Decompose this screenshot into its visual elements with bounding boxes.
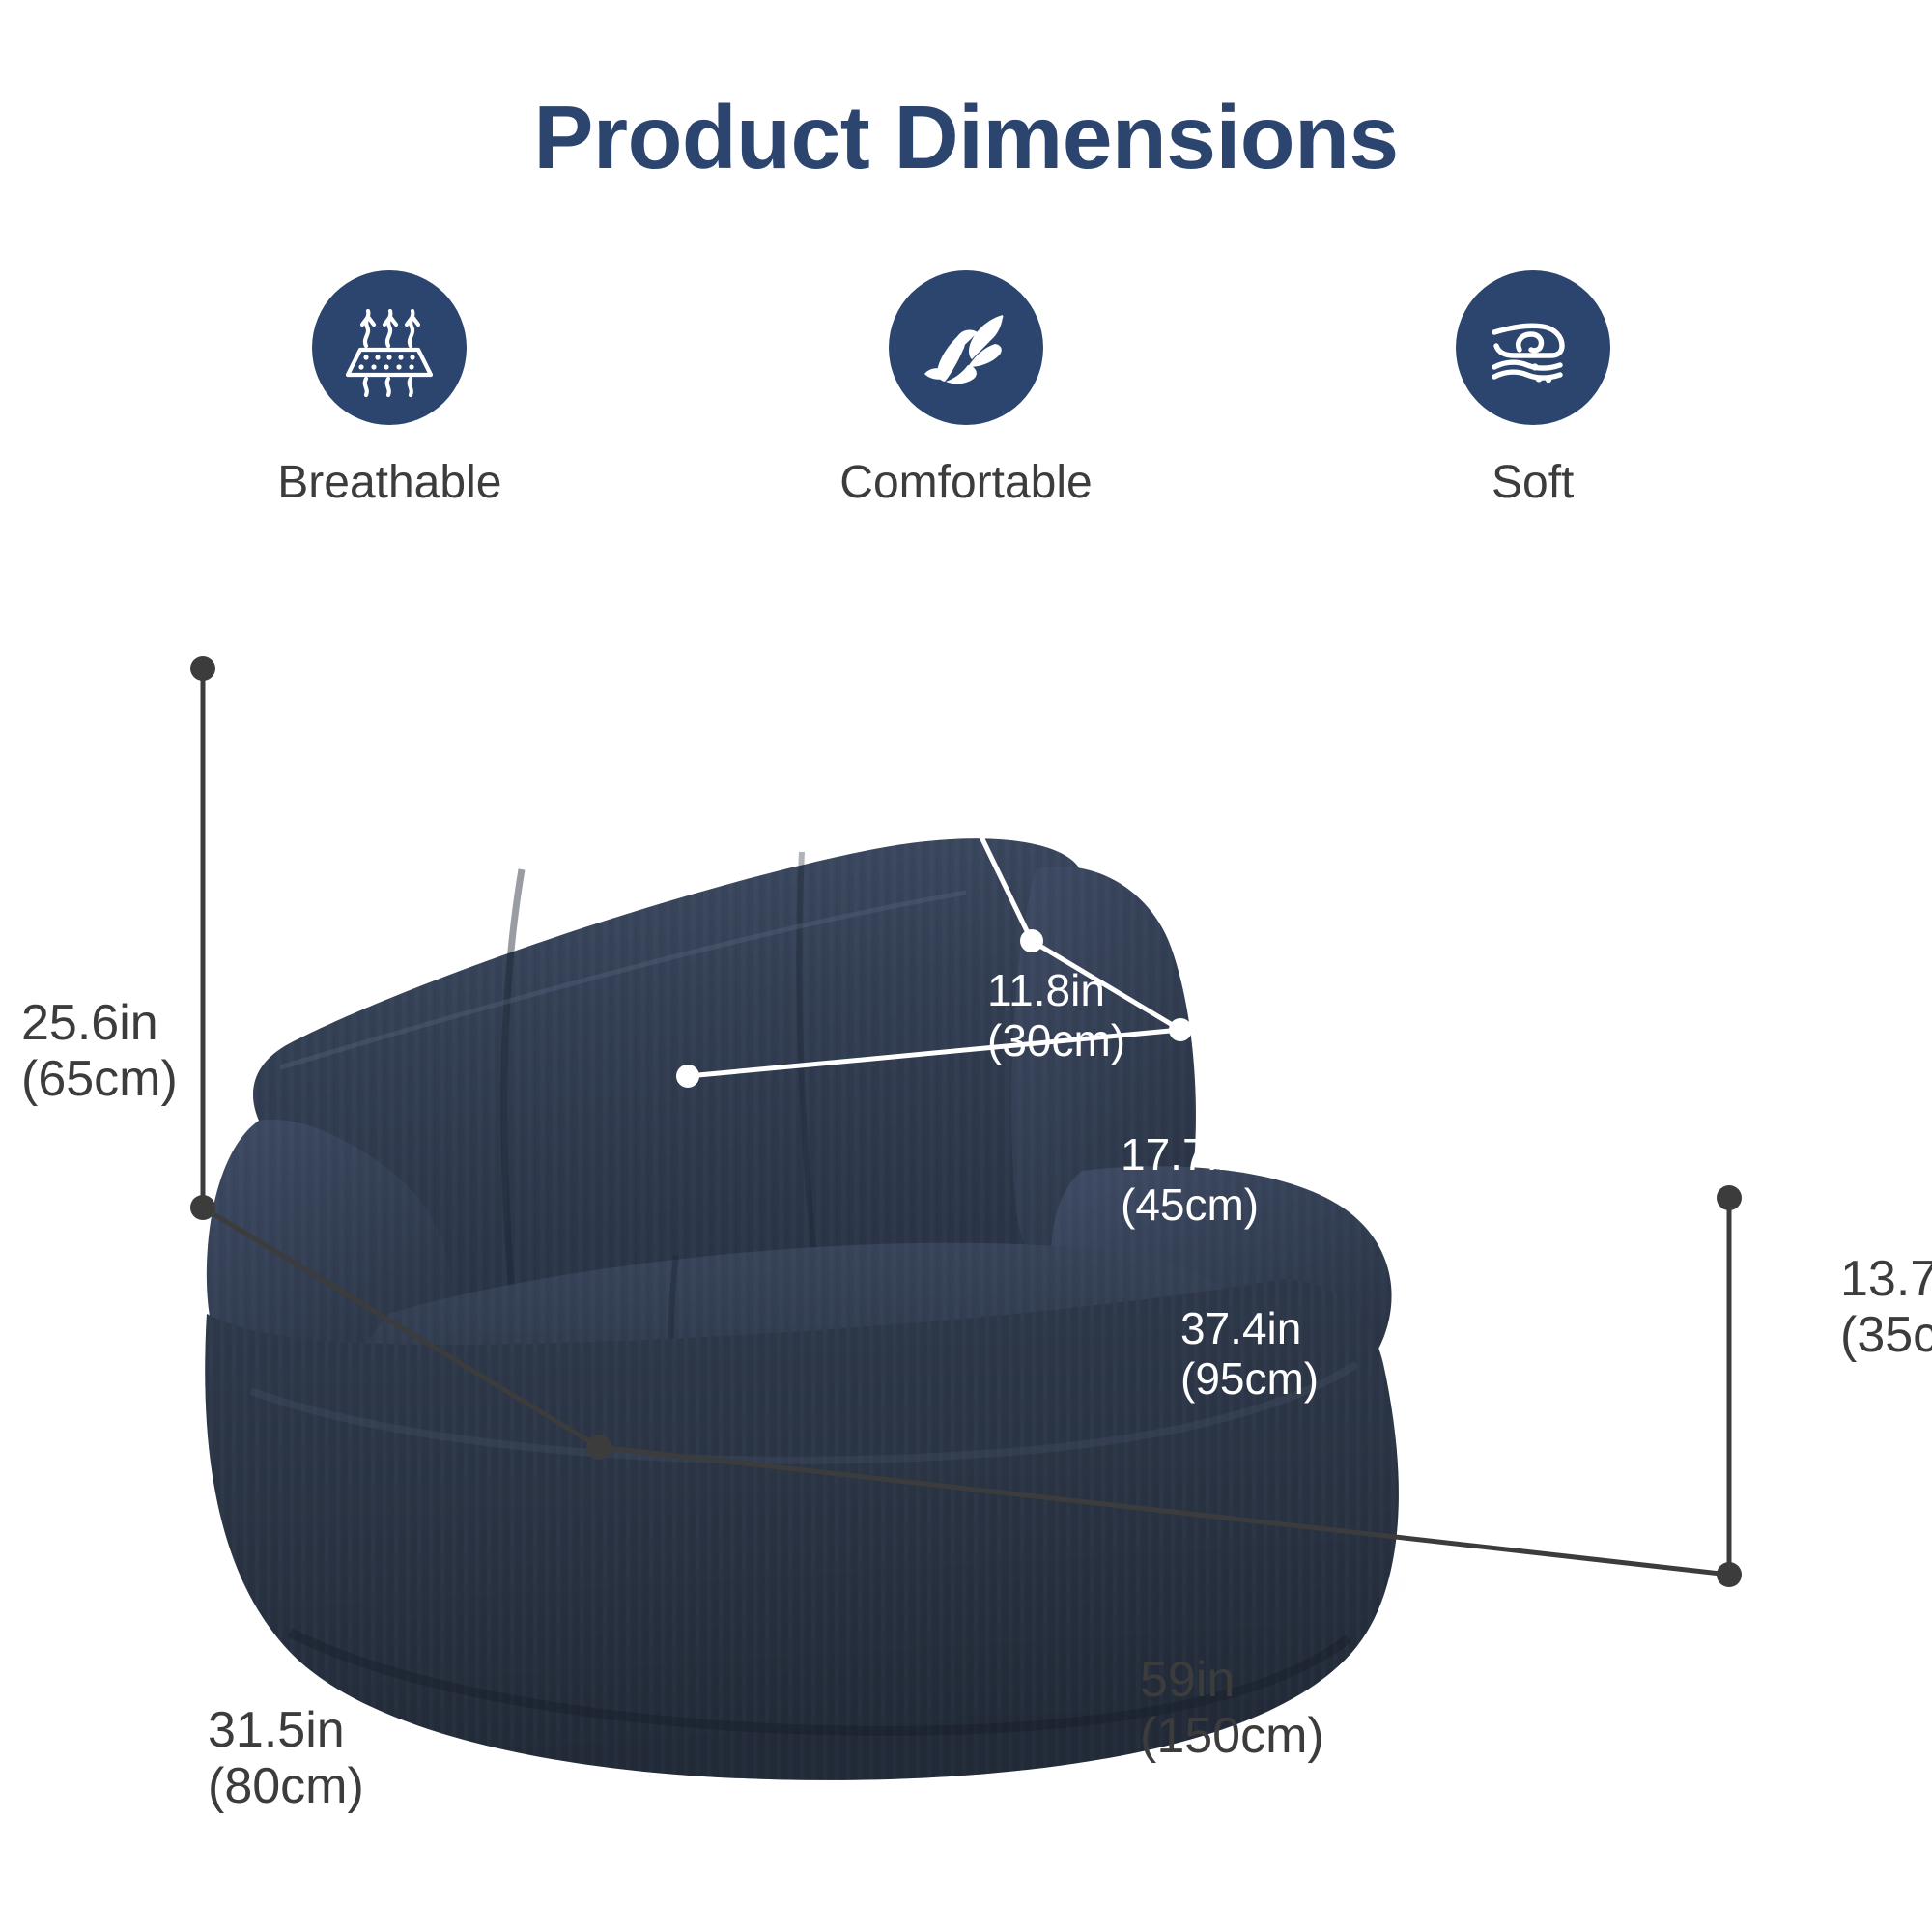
dimension-seat-width-cm: (95cm) [1180,1354,1319,1405]
dimension-depth-inches: 31.5in [208,1702,364,1758]
feature-label-comfortable: Comfortable [839,460,1092,506]
hand-touching-fabric-icon [1456,270,1610,425]
page-title: Product Dimensions [0,93,1932,183]
feature-item-breathable: Breathable [116,270,683,560]
feature-highlights-row: Breathable Comfortable [116,270,1816,560]
dimension-arm-height-inches: 13.7in [1840,1251,1932,1307]
dimension-label-width: 59in (150cm) [1140,1652,1324,1764]
dimension-height-inches: 25.6in [21,995,178,1051]
product-dimensions-infographic: Product Dimensions [0,0,1932,1932]
dimension-seat-depth-cm: (45cm) [1121,1180,1259,1231]
dimension-width-cm: (150cm) [1140,1708,1324,1764]
dimension-label-height: 25.6in (65cm) [21,995,178,1107]
dimension-label-depth: 31.5in (80cm) [208,1702,364,1814]
dimension-label-seat-width: 37.4in (95cm) [1180,1304,1319,1404]
dimension-label-seat-depth: 17.7in (45cm) [1121,1130,1259,1230]
feature-label-breathable: Breathable [277,460,501,506]
dimension-backrest-inches: 11.8in [987,966,1125,1016]
dimension-width-inches: 59in [1140,1652,1324,1708]
dimension-label-backrest: 11.8in (30cm) [987,966,1125,1065]
feature-item-comfortable: Comfortable [683,270,1250,560]
dimension-seat-depth-inches: 17.7in [1121,1130,1259,1180]
breathable-airflow-icon [312,270,467,425]
dimension-height-cm: (65cm) [21,1051,178,1107]
dimension-seat-width-inches: 37.4in [1180,1304,1319,1354]
feathers-icon [889,270,1043,425]
dimension-backrest-cm: (30cm) [987,1016,1125,1066]
feature-label-soft: Soft [1492,460,1574,506]
dimension-arm-height-cm: (35cm) [1840,1307,1932,1363]
feature-item-soft: Soft [1249,270,1816,560]
dimension-label-arm-height: 13.7in (35cm) [1840,1251,1932,1363]
dimension-depth-cm: (80cm) [208,1758,364,1814]
